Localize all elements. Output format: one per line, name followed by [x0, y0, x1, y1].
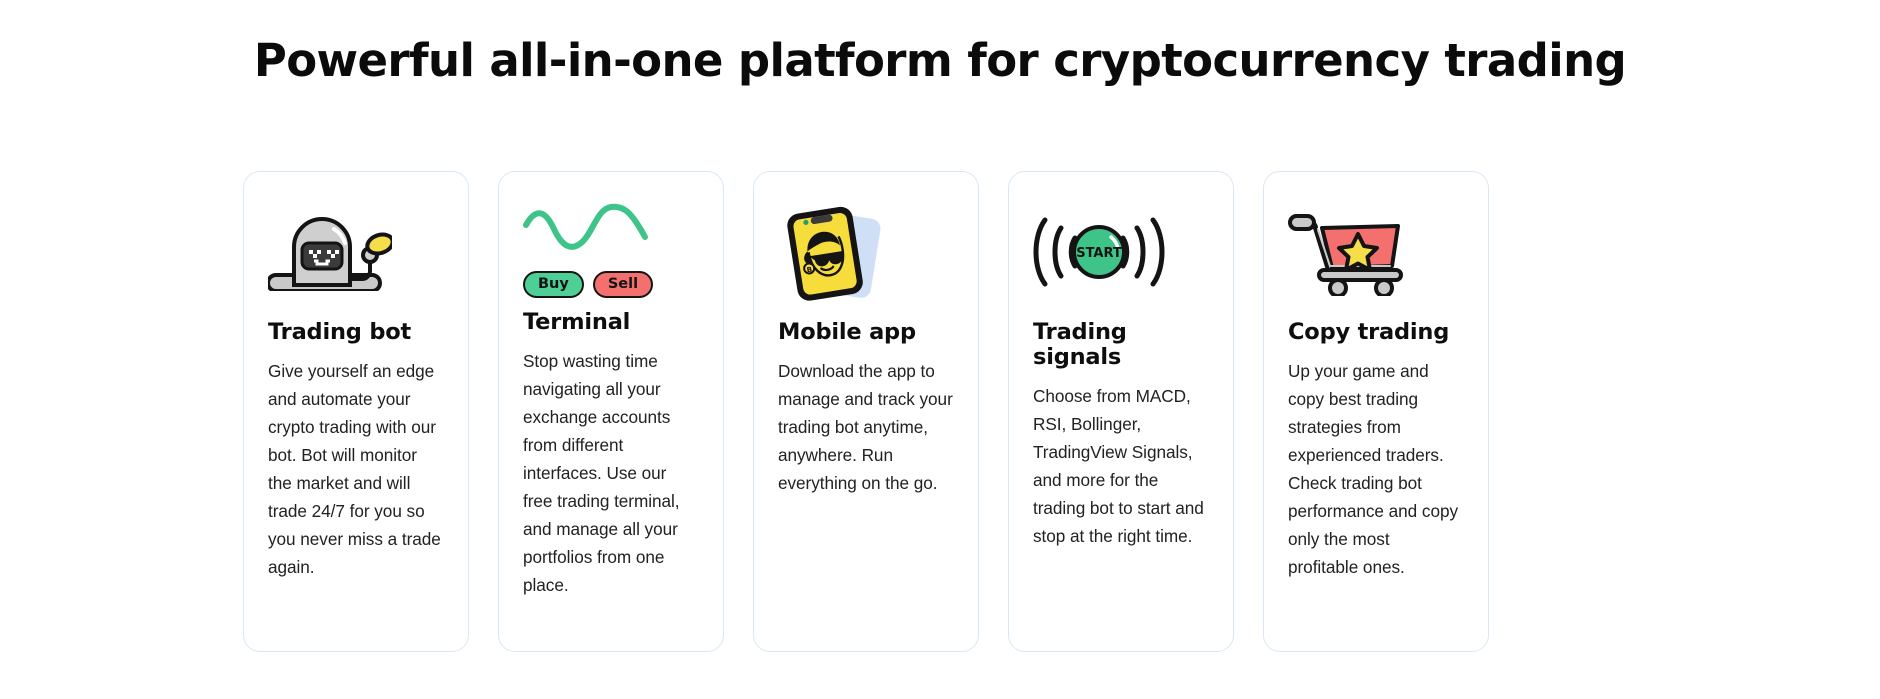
robot-with-coin-icon — [268, 213, 392, 296]
buy-badge[interactable]: Buy — [523, 271, 584, 298]
card-body: Up your game and copy best trading strat… — [1288, 357, 1464, 581]
card-icon-container: B — [778, 200, 954, 308]
card-body: Download the app to manage and track you… — [778, 357, 954, 497]
card-body: Choose from MACD, RSI, Bollinger, Tradin… — [1033, 382, 1209, 550]
feature-card-copy-trading[interactable]: Copy trading Up your game and copy best … — [1263, 171, 1489, 652]
shopping-cart-with-star-icon — [1288, 208, 1408, 301]
card-title: Mobile app — [778, 320, 954, 345]
feature-card-mobile-app[interactable]: B Mobile app Download the app to manage … — [753, 171, 979, 652]
card-body: Give yourself an edge and automate your … — [268, 357, 444, 581]
card-title: Copy trading — [1288, 320, 1464, 345]
sell-badge[interactable]: Sell — [593, 271, 653, 298]
feature-card-list: Trading bot Give yourself an edge and au… — [243, 171, 1489, 652]
card-title: Terminal — [523, 310, 699, 335]
card-title: Trading signals — [1033, 320, 1209, 370]
signal-start-button-icon: START — [1033, 216, 1165, 293]
line-chart-with-buy-sell-icon — [523, 203, 649, 264]
page-title: Powerful all-in-one platform for cryptoc… — [0, 34, 1880, 87]
start-button-label: START — [1076, 246, 1122, 261]
mobile-phone-with-face-icon: B — [778, 203, 888, 306]
feature-card-terminal[interactable]: Buy Sell Terminal Stop wasting time navi… — [498, 171, 724, 652]
card-title: Trading bot — [268, 320, 444, 345]
feature-card-trading-bot[interactable]: Trading bot Give yourself an edge and au… — [243, 171, 469, 652]
card-icon-container: START — [1033, 200, 1209, 308]
card-icon-container — [268, 200, 444, 308]
features-section: Powerful all-in-one platform for cryptoc… — [0, 0, 1880, 699]
buy-sell-badge-group: Buy Sell — [523, 271, 653, 298]
card-icon-container: Buy Sell — [523, 196, 699, 304]
feature-card-trading-signals[interactable]: START Trading signals Choose from MACD, … — [1008, 171, 1234, 652]
card-body: Stop wasting time navigating all your ex… — [523, 347, 699, 599]
card-icon-container — [1288, 200, 1464, 308]
